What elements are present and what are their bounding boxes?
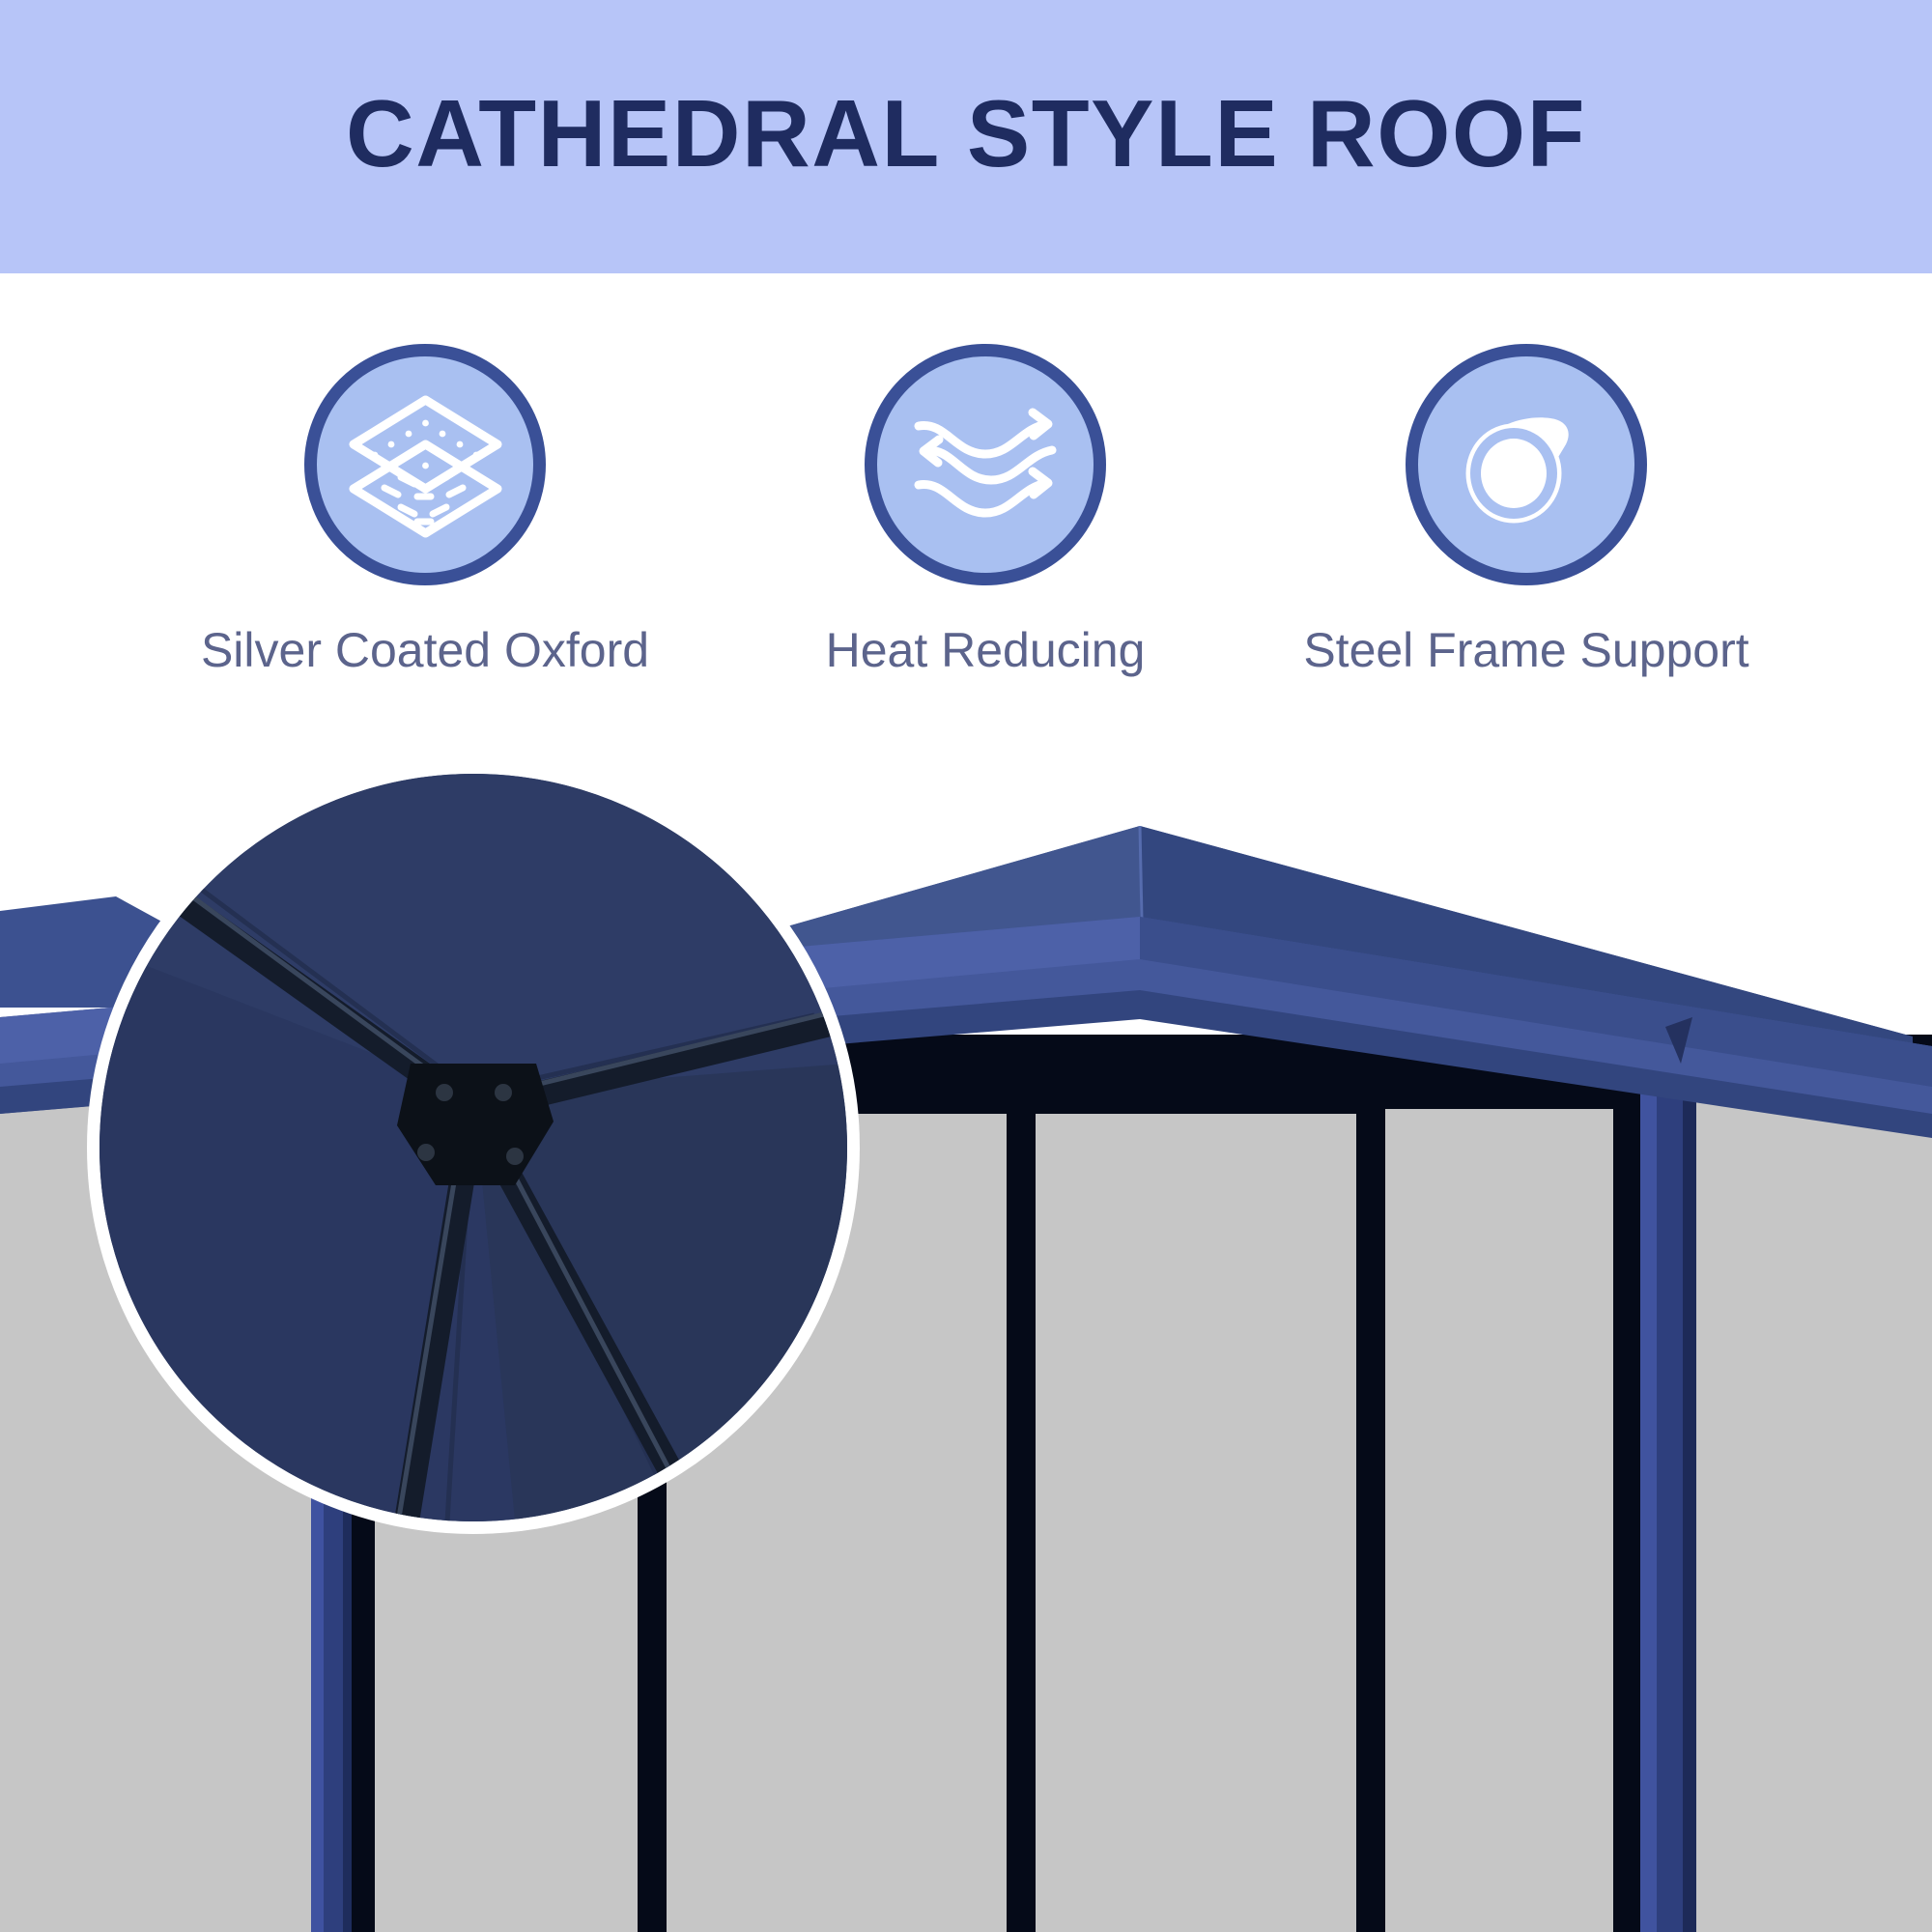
feature-label: Silver Coated Oxford xyxy=(201,626,649,674)
product-feature-image: CATHEDRAL STYLE ROOF xyxy=(0,0,1932,1932)
feature-label: Heat Reducing xyxy=(826,626,1146,674)
steel-tube-icon xyxy=(1406,344,1647,585)
page-title: CATHEDRAL STYLE ROOF xyxy=(346,86,1586,181)
feature-item-silver-coated-oxford: Silver Coated Oxford xyxy=(155,273,696,727)
feature-label: Steel Frame Support xyxy=(1303,626,1748,674)
canopy-underside-detail-inset xyxy=(87,761,860,1534)
feature-list: Silver Coated Oxford xyxy=(0,273,1932,727)
fabric-layers-icon xyxy=(304,344,546,585)
product-photo xyxy=(0,727,1932,1932)
feature-item-steel-frame-support: Steel Frame Support xyxy=(1256,273,1797,727)
canopy-underside-frame-detail xyxy=(99,774,847,1521)
header-banner: CATHEDRAL STYLE ROOF xyxy=(0,0,1932,273)
canopy-ridge-line xyxy=(1140,826,1142,921)
airflow-waves-icon xyxy=(865,344,1106,585)
feature-item-heat-reducing: Heat Reducing xyxy=(715,273,1256,727)
